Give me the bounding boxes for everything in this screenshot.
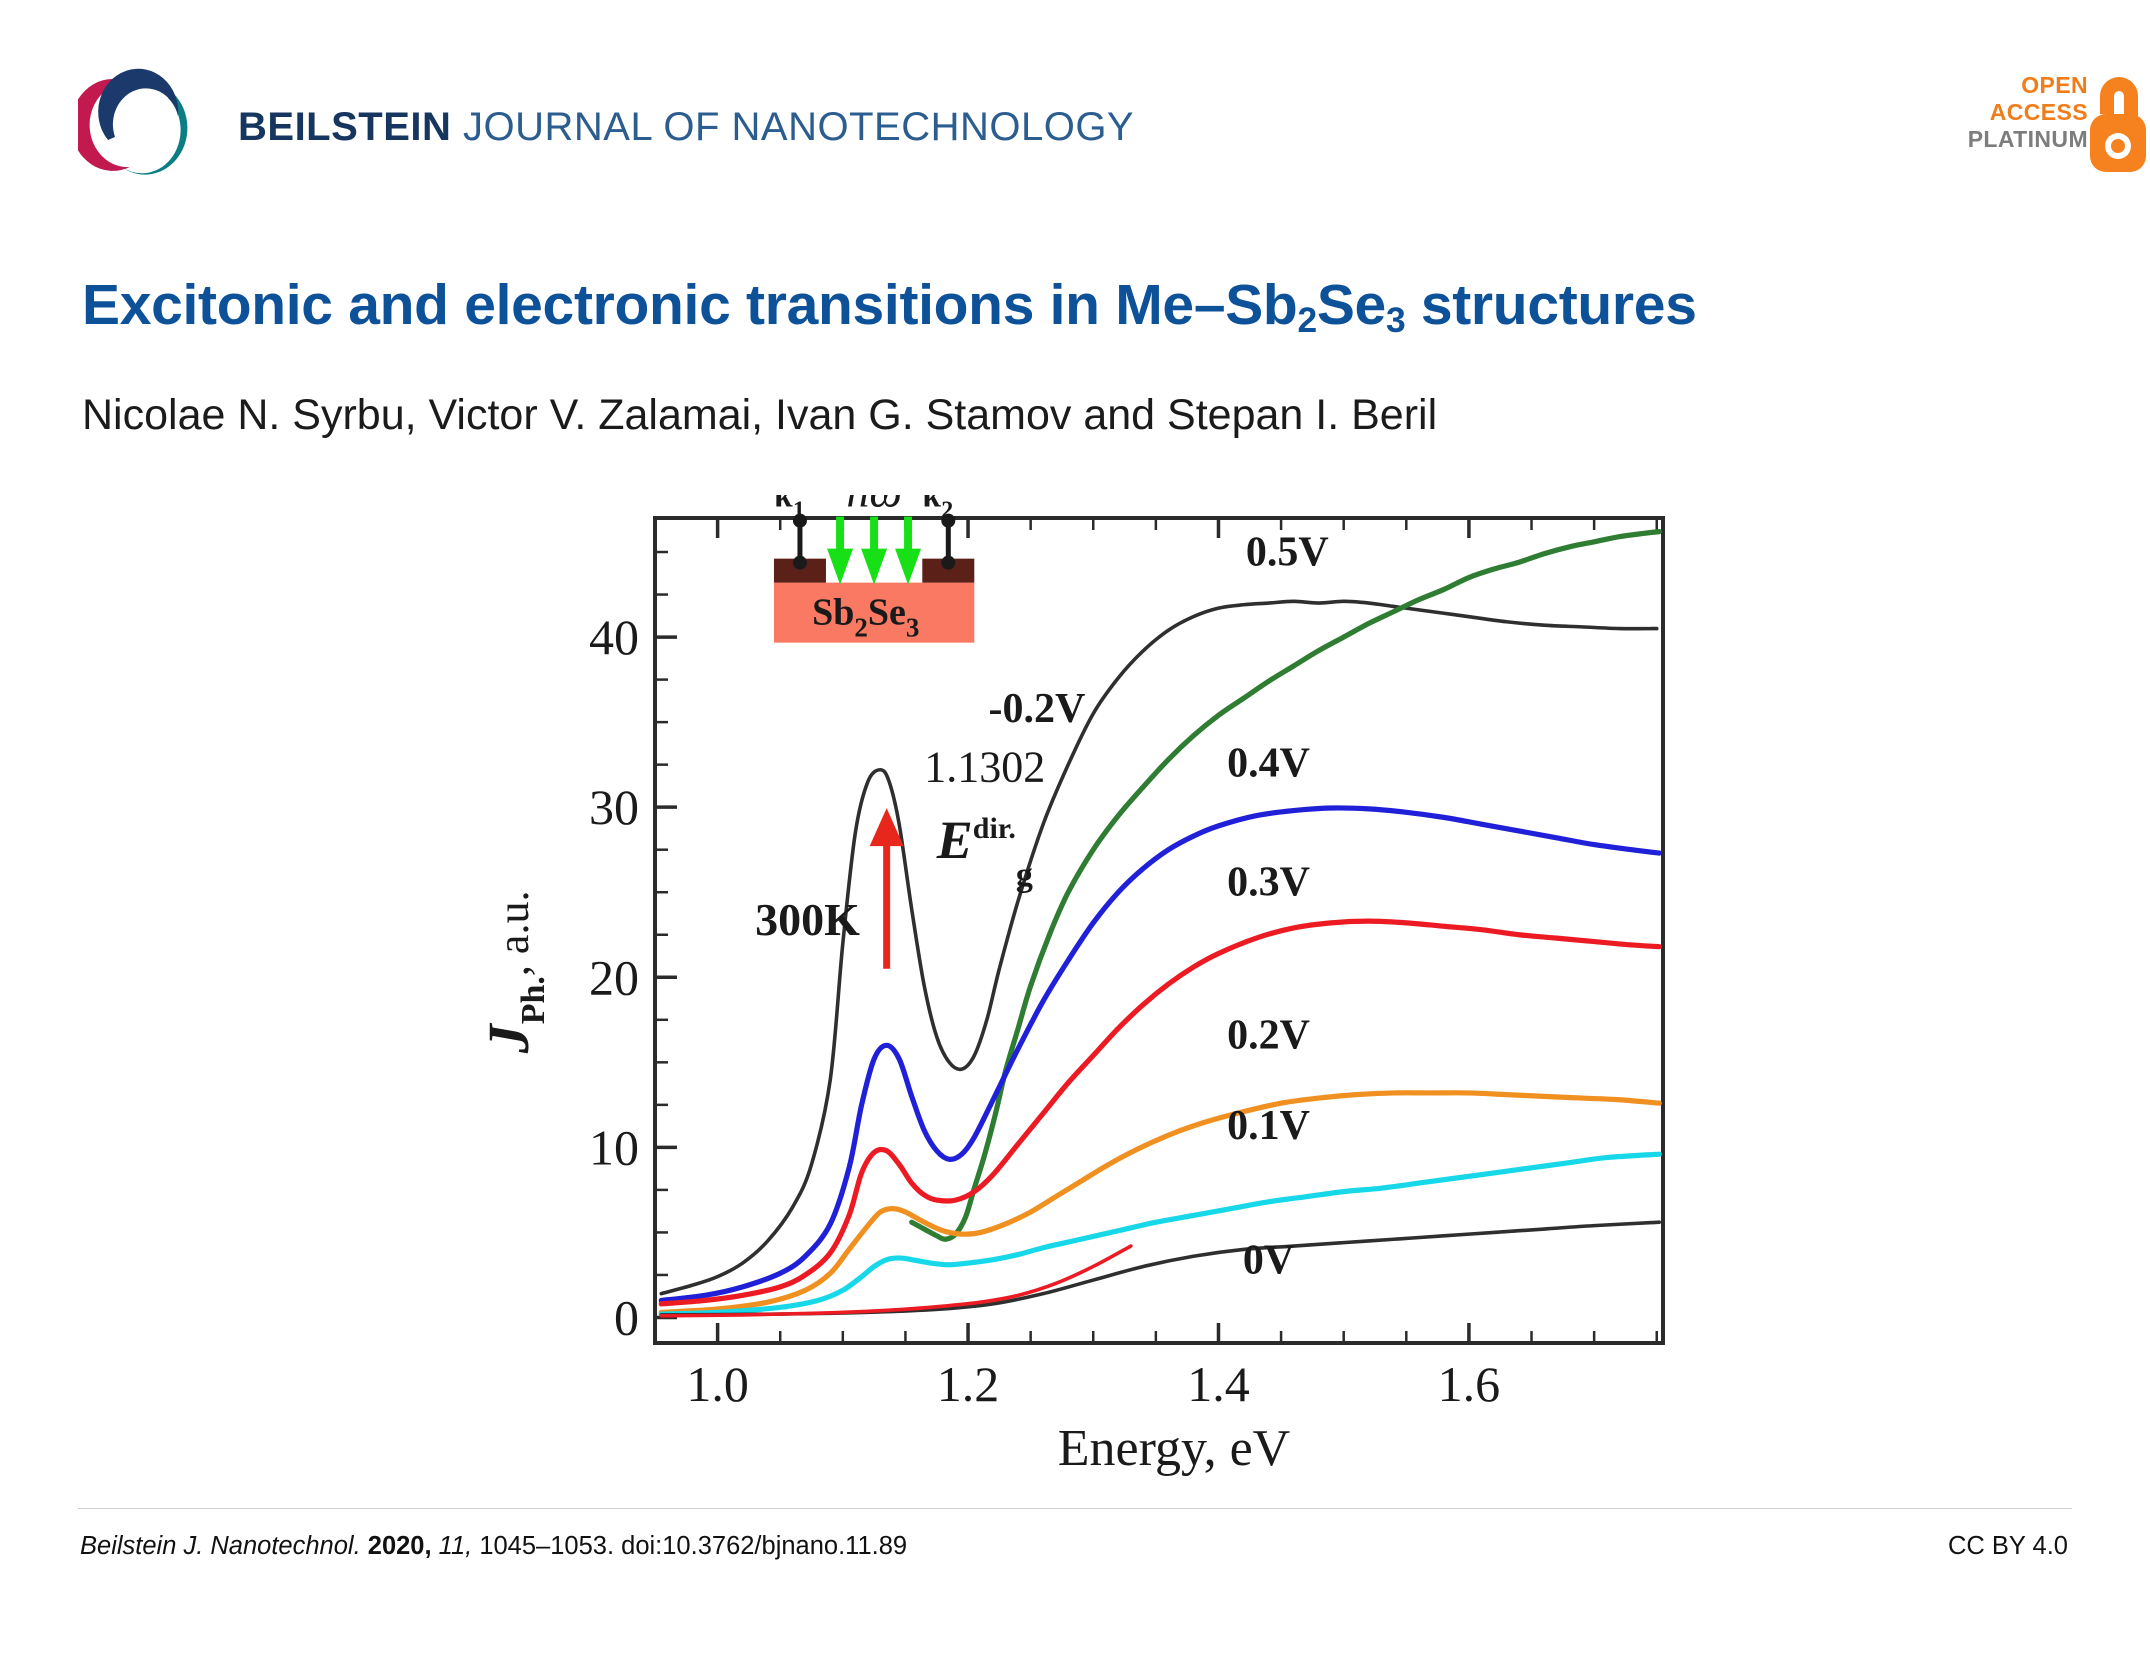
series-label-05V: 0.5V	[1246, 530, 1329, 576]
series-curve-05V	[661, 601, 1656, 1293]
y-tick-label: 0	[614, 1289, 639, 1345]
citation-doi[interactable]: doi:10.3762/bjnano.11.89	[621, 1532, 907, 1560]
inset-photon-arrowhead	[861, 549, 887, 585]
inset-photon-label: hω	[846, 495, 901, 517]
annotation-direct-gap: Edir.g	[936, 810, 1033, 894]
title-sub-1: 2	[1297, 301, 1316, 340]
brand-bold: BEILSTEIN	[238, 105, 451, 149]
oa-line-platinum: PLATINUM	[1968, 126, 2088, 153]
annotation-exciton-energy: 1.1302	[924, 743, 1045, 792]
annotation-temperature: 300K	[755, 894, 860, 945]
inset-photon-arrowhead	[895, 549, 921, 585]
x-tick-label: 1.2	[937, 1356, 1000, 1412]
beilstein-logo-icon	[78, 64, 200, 176]
open-access-text: OPEN ACCESS PLATINUM	[1968, 72, 2088, 153]
brand-light: JOURNAL OF NANOTECHNOLOGY	[451, 105, 1134, 149]
citation-journal: Beilstein J. Nanotechnol.	[80, 1532, 361, 1560]
series-label-01V: 0.1V	[1227, 1103, 1310, 1149]
open-padlock-icon	[2088, 66, 2150, 174]
x-tick-label: 1.4	[1187, 1356, 1250, 1412]
title-part-1: Excitonic and electronic transitions in …	[82, 273, 1297, 337]
series-curve-02V	[661, 1093, 1659, 1313]
y-tick-label: 20	[589, 949, 639, 1005]
journal-brand: BEILSTEIN JOURNAL OF NANOTECHNOLOGY	[238, 105, 1134, 150]
page-title: Excitonic and electronic transitions in …	[82, 274, 2042, 340]
series-curve-04V	[661, 808, 1659, 1301]
x-axis-label: Energy, eV	[1058, 1420, 1290, 1477]
x-tick-label: 1.0	[686, 1356, 749, 1412]
y-axis-label: JPh., a.u.	[476, 891, 552, 1055]
title-part-2: Se	[1317, 273, 1386, 337]
y-tick-label: 10	[589, 1119, 639, 1175]
author-list: Nicolae N. Syrbu, Victor V. Zalamai, Iva…	[82, 390, 2042, 442]
series-curve-03V	[661, 921, 1659, 1304]
series-label-02V: 0.2V	[1227, 1013, 1310, 1059]
y-tick-label: 40	[589, 609, 639, 665]
license-label[interactable]: CC BY 4.0	[1948, 1532, 2068, 1561]
y-tick-label: 30	[589, 779, 639, 835]
oa-line-access: ACCESS	[1968, 99, 2088, 126]
citation-pages: 1045–1053.	[472, 1532, 621, 1560]
article-cover-page: BEILSTEIN JOURNAL OF NANOTECHNOLOGY OPEN…	[0, 0, 2150, 1675]
photocurrent-spectra-figure: 1.01.21.41.6Energy, eV010203040JPh., a.u…	[470, 495, 1730, 1480]
inset-photon-arrowhead	[827, 549, 853, 585]
chart-canvas: 1.01.21.41.6Energy, eV010203040JPh., a.u…	[470, 495, 1730, 1480]
inset-contact-dot-right	[941, 556, 955, 570]
title-part-3: structures	[1405, 273, 1696, 337]
x-tick-label: 1.6	[1438, 1356, 1501, 1412]
series-label-03V: 0.3V	[1227, 860, 1310, 906]
citation-year: 2020,	[368, 1532, 432, 1560]
oa-line-open: OPEN	[1968, 72, 2088, 99]
series-label-02V: -0.2V	[988, 686, 1085, 732]
citation-volume: 11,	[439, 1532, 473, 1560]
footer-divider	[78, 1508, 2072, 1509]
citation-line: Beilstein J. Nanotechnol. 2020, 11, 1045…	[80, 1532, 907, 1561]
page-header: BEILSTEIN JOURNAL OF NANOTECHNOLOGY OPEN…	[0, 0, 2150, 200]
title-sub-2: 3	[1386, 301, 1405, 340]
series-label-04V: 0.4V	[1227, 741, 1310, 787]
inset-contact-dot-left	[793, 556, 807, 570]
series-label-0V: 0V	[1243, 1237, 1294, 1283]
